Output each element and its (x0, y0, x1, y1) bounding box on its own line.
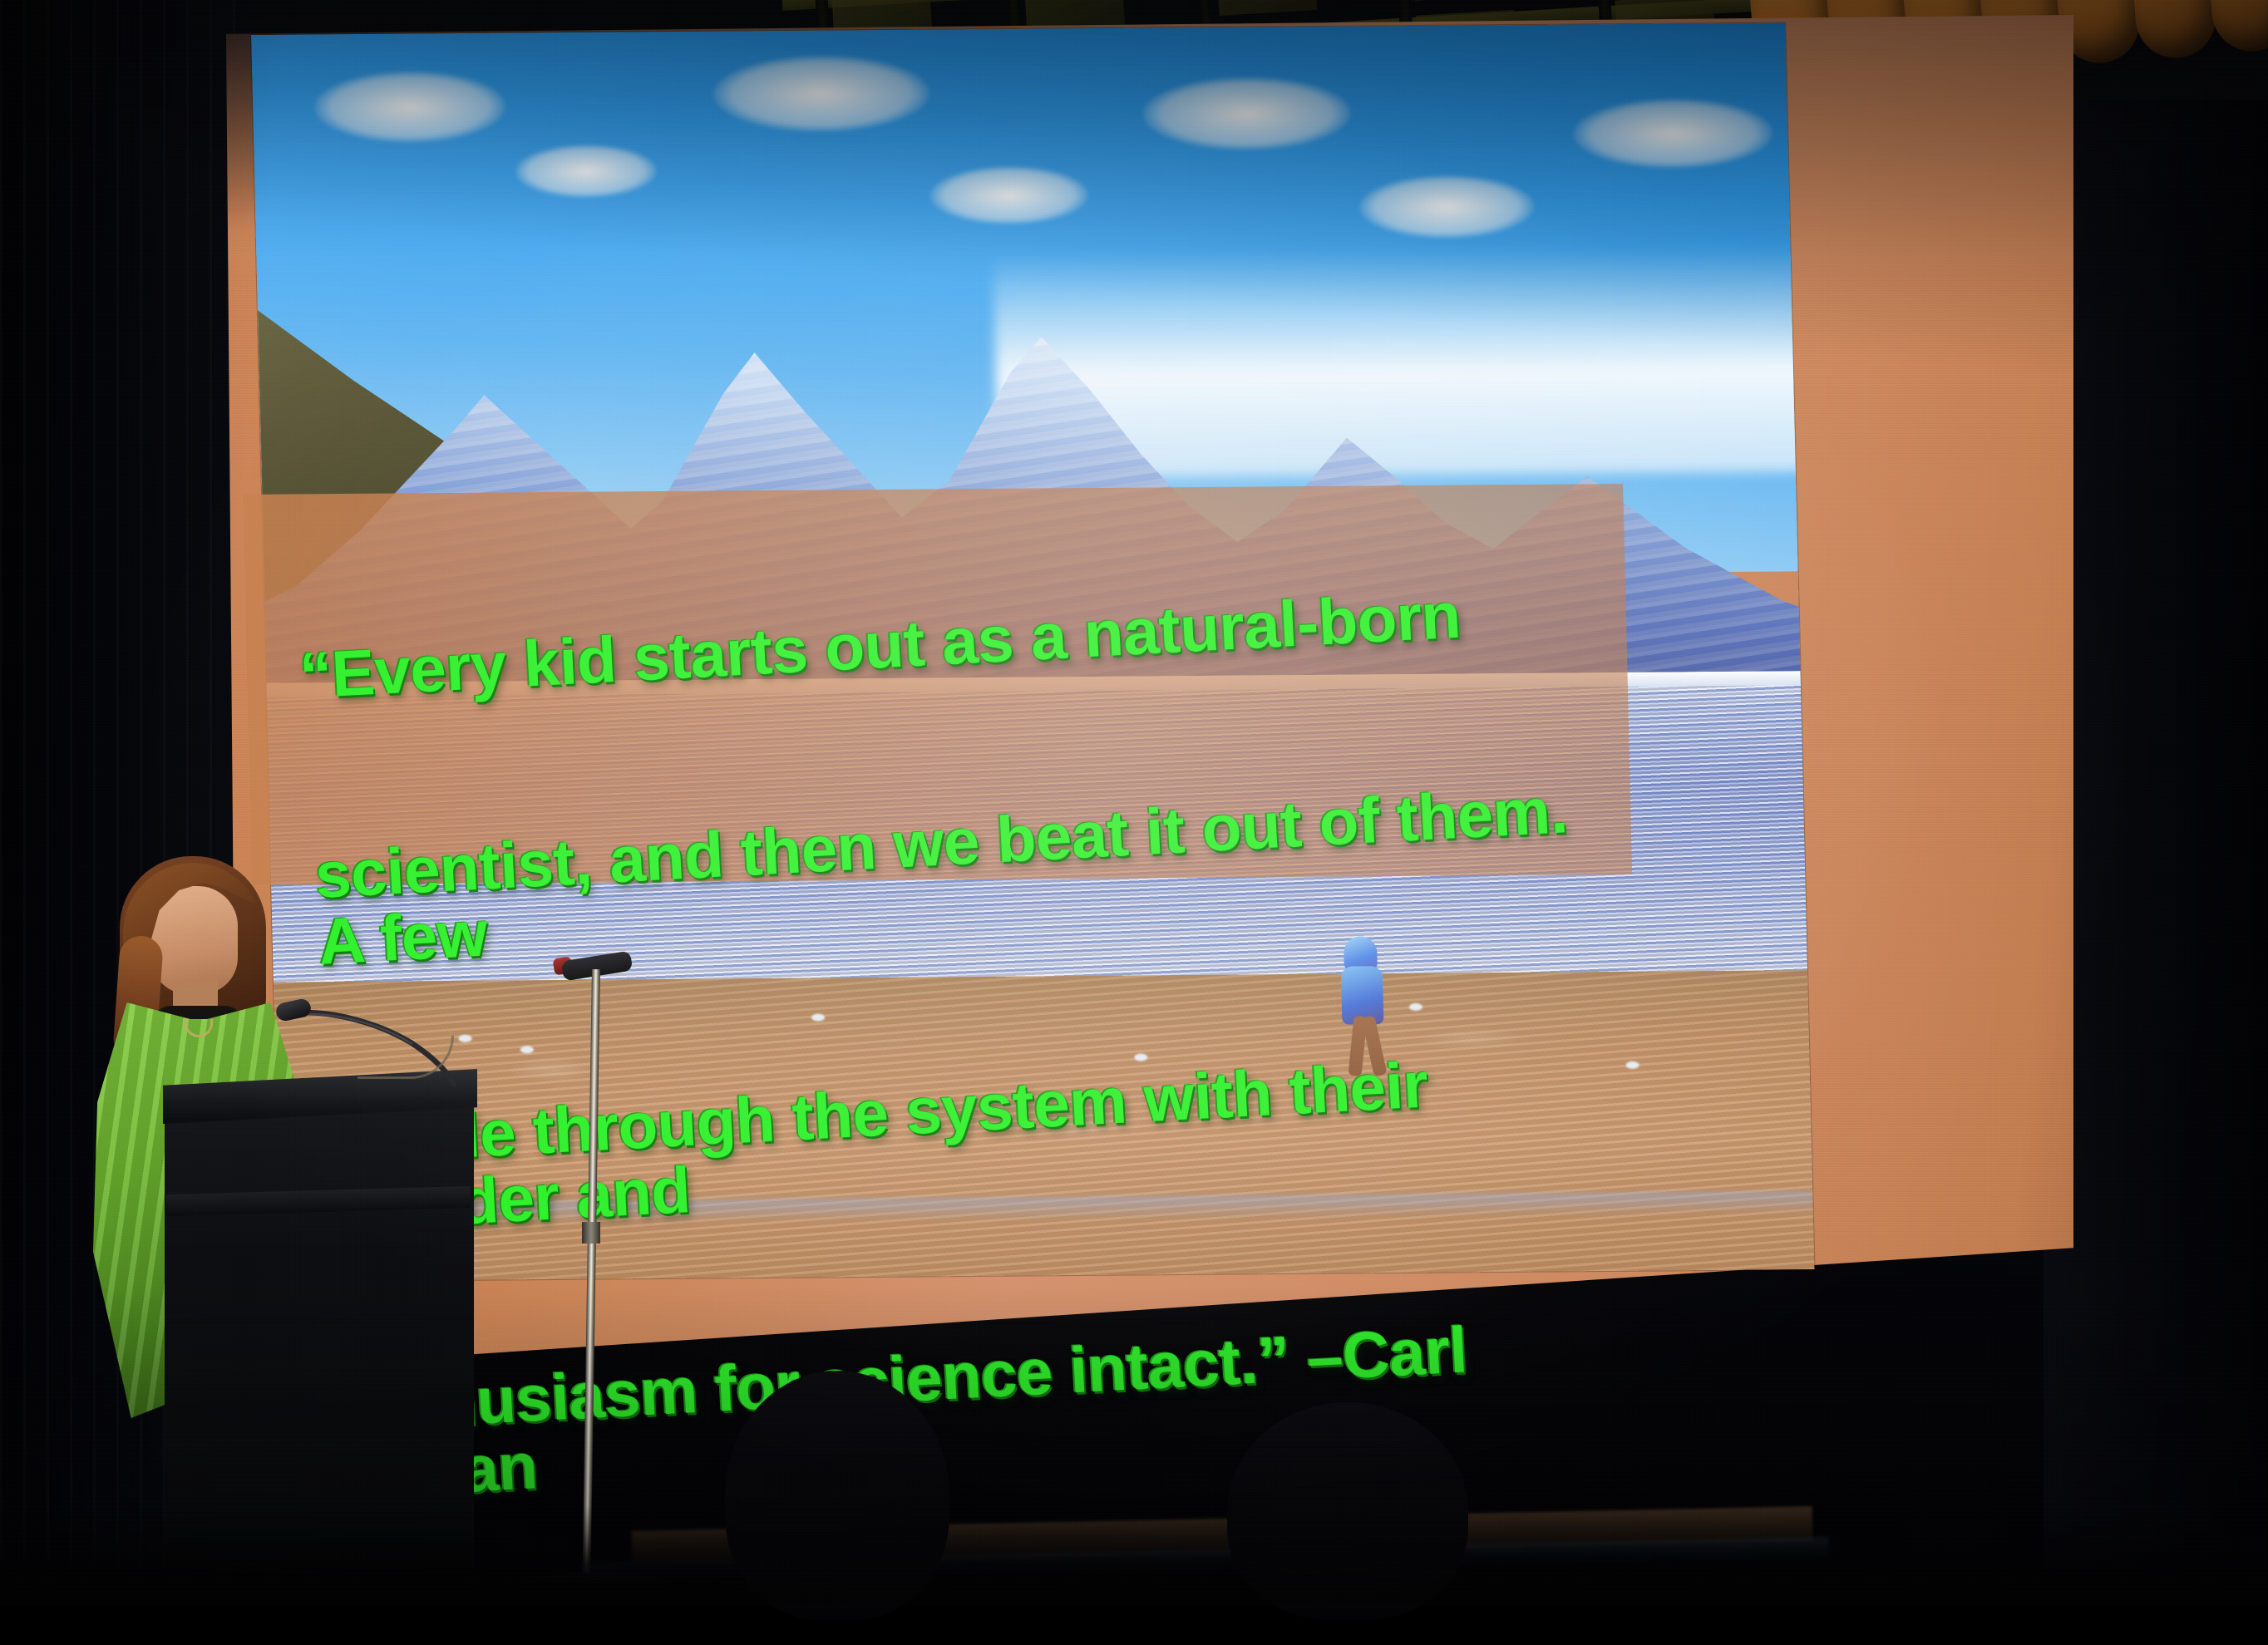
stage-front-shadow (0, 1505, 2268, 1605)
photo-child-figure (1339, 936, 1390, 1079)
audience-head (725, 1371, 949, 1620)
audience-head (1227, 1402, 1468, 1620)
presentation-scene: “Every kid starts out as a natural-born … (0, 0, 2268, 1605)
stage-curtain-right (2044, 100, 2268, 1605)
mic-stand-collar (582, 1222, 600, 1244)
slide-text-panel (243, 484, 1632, 885)
